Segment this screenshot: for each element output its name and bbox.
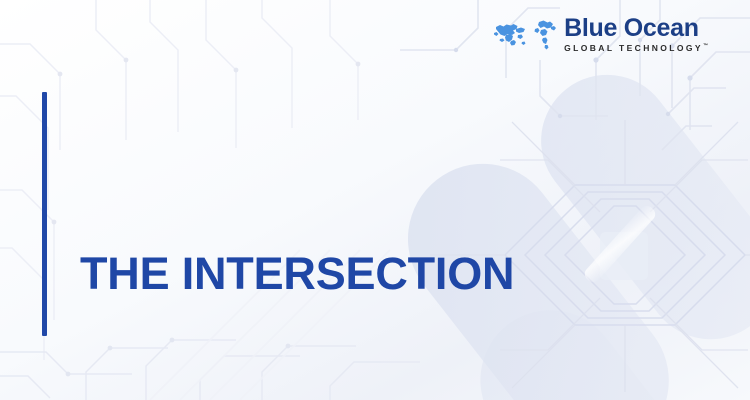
logo-text-block: Blue Ocean GLOBAL TECHNOLOGY™ <box>564 16 708 53</box>
trademark-symbol: ™ <box>703 43 708 49</box>
blog-banner: Blue Ocean GLOBAL TECHNOLOGY™ THE INTERS… <box>0 0 750 400</box>
world-map-icon <box>491 17 557 51</box>
accent-bar <box>42 92 47 336</box>
logo-tagline: GLOBAL TECHNOLOGY™ <box>564 44 708 53</box>
logo-name: Blue Ocean <box>564 16 708 41</box>
logo-tagline-text: GLOBAL TECHNOLOGY <box>564 43 703 53</box>
title-line-1: THE INTERSECTION <box>80 244 640 303</box>
brand-logo[interactable]: Blue Ocean GLOBAL TECHNOLOGY™ <box>491 16 708 53</box>
page-title: THE INTERSECTION OF LAW AND FINANCE: KEY… <box>80 126 640 400</box>
